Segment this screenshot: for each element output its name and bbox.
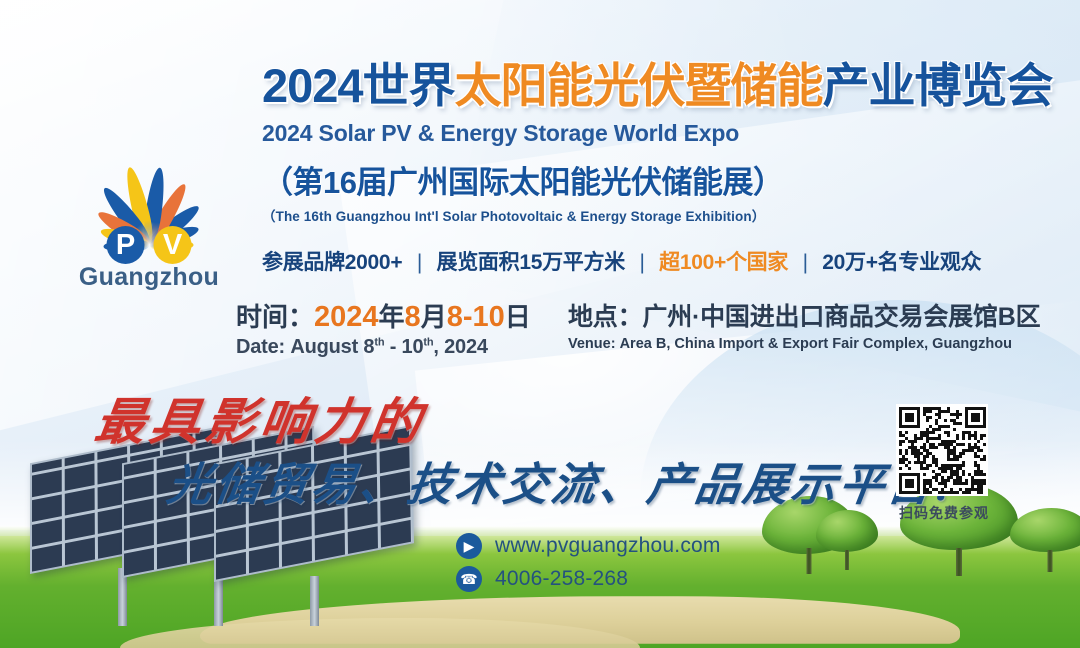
tree: [1010, 508, 1080, 572]
date-month: 8: [405, 301, 421, 333]
date-ordinal-1: th: [374, 336, 384, 348]
qr-caption: 扫码免费参观: [896, 503, 992, 523]
pv-guangzhou-logo: P V Guangzhou: [44, 104, 254, 294]
main-title-part-1: 2024世界: [262, 59, 455, 112]
date-month-en: August: [290, 336, 358, 358]
website-url[interactable]: www.pvguangzhou.com: [495, 534, 721, 558]
stat-visitors: 20万+名专业观众: [822, 251, 981, 274]
stat-separator: |: [639, 251, 644, 274]
logo-pv-lettermark: P V: [107, 226, 192, 264]
phone-circle-icon: ☎: [456, 566, 482, 592]
stat-separator: |: [417, 251, 422, 274]
event-venue-block: 地点：广州·中国进出口商品交易会展馆B区 Venue: Area B, Chin…: [568, 297, 1040, 352]
logo-v-badge: V: [154, 226, 192, 264]
main-title: 2024世界太阳能光伏暨储能产业博览会: [262, 62, 1052, 111]
phone-number[interactable]: 4006-258-268: [495, 567, 628, 591]
date-day-start-en: 8: [363, 336, 374, 358]
event-date-block: 时间：2024年8月8-10日 Date: August 8th - 10th,…: [236, 297, 531, 359]
date-day-unit: 日: [505, 302, 531, 332]
main-title-english: 2024 Solar PV & Energy Storage World Exp…: [262, 120, 1052, 147]
date-ordinal-2: th: [423, 336, 433, 348]
date-label-en: Date:: [236, 336, 285, 358]
date-year: 2024: [314, 301, 379, 333]
date-label-cn: 时间：: [236, 302, 314, 332]
qr-block: 扫码免费参观: [896, 404, 992, 523]
stat-area: 展览面积15万平方米: [437, 251, 625, 274]
main-title-part-3: 产业博览会: [823, 59, 1053, 112]
website-row[interactable]: ▶ www.pvguangzhou.com: [456, 533, 721, 559]
venue-en: Venue: Area B, China Import & Export Fai…: [568, 336, 1040, 352]
edition-subtitle-en: （The 16th Guangzhou Int'l Solar Photovol…: [262, 205, 1052, 225]
tree: [816, 510, 878, 570]
date-year-en: 2024: [444, 336, 488, 358]
event-date-cn: 时间：2024年8月8-10日: [236, 297, 531, 334]
slogan-line-2: 光储贸易、技术交流、产品展示平台!: [163, 448, 961, 513]
expo-poster: P V Guangzhou 2024世界太阳能光伏暨储能产业博览会 2024 S…: [0, 0, 1080, 648]
qr-code[interactable]: [896, 404, 988, 496]
edition-subtitle-cn: （第16届广州国际太阳能光伏储能展）: [262, 157, 1052, 202]
stat-countries: 超100+个国家: [659, 251, 788, 274]
logo-p-badge: P: [107, 226, 145, 264]
venue-label-cn: 地点：: [568, 303, 642, 331]
date-month-unit: 月: [421, 302, 447, 332]
date-days: 8-10: [447, 301, 505, 333]
stats-strip: 参展品牌2000+ | 展览面积15万平方米 | 超100+个国家 | 20万+…: [262, 246, 981, 276]
venue-label-en: Venue:: [568, 336, 616, 352]
venue-value-en: Area B, China Import & Export Fair Compl…: [620, 336, 1012, 352]
stat-brands: 参展品牌2000+: [262, 251, 402, 274]
play-circle-icon: ▶: [456, 533, 482, 559]
solar-panel-post: [310, 576, 319, 626]
event-date-en: Date: August 8th - 10th, 2024: [236, 336, 531, 359]
slogan-line-1: 最具影响力的: [91, 382, 431, 454]
phone-row[interactable]: ☎ 4006-258-268: [456, 566, 721, 592]
venue-value-cn: 广州·中国进出口商品交易会展馆B区: [642, 303, 1040, 331]
date-day-end-en: 10: [402, 336, 424, 358]
headline-block: 2024世界太阳能光伏暨储能产业博览会 2024 Solar PV & Ener…: [262, 62, 1052, 225]
date-year-unit: 年: [379, 302, 405, 332]
venue-cn: 地点：广州·中国进出口商品交易会展馆B区: [568, 297, 1040, 333]
main-title-part-2: 太阳能光伏暨储能: [455, 59, 823, 112]
logo-city-label: Guangzhou: [79, 263, 219, 292]
stat-separator: |: [803, 251, 808, 274]
contact-block: ▶ www.pvguangzhou.com ☎ 4006-258-268: [456, 533, 721, 599]
